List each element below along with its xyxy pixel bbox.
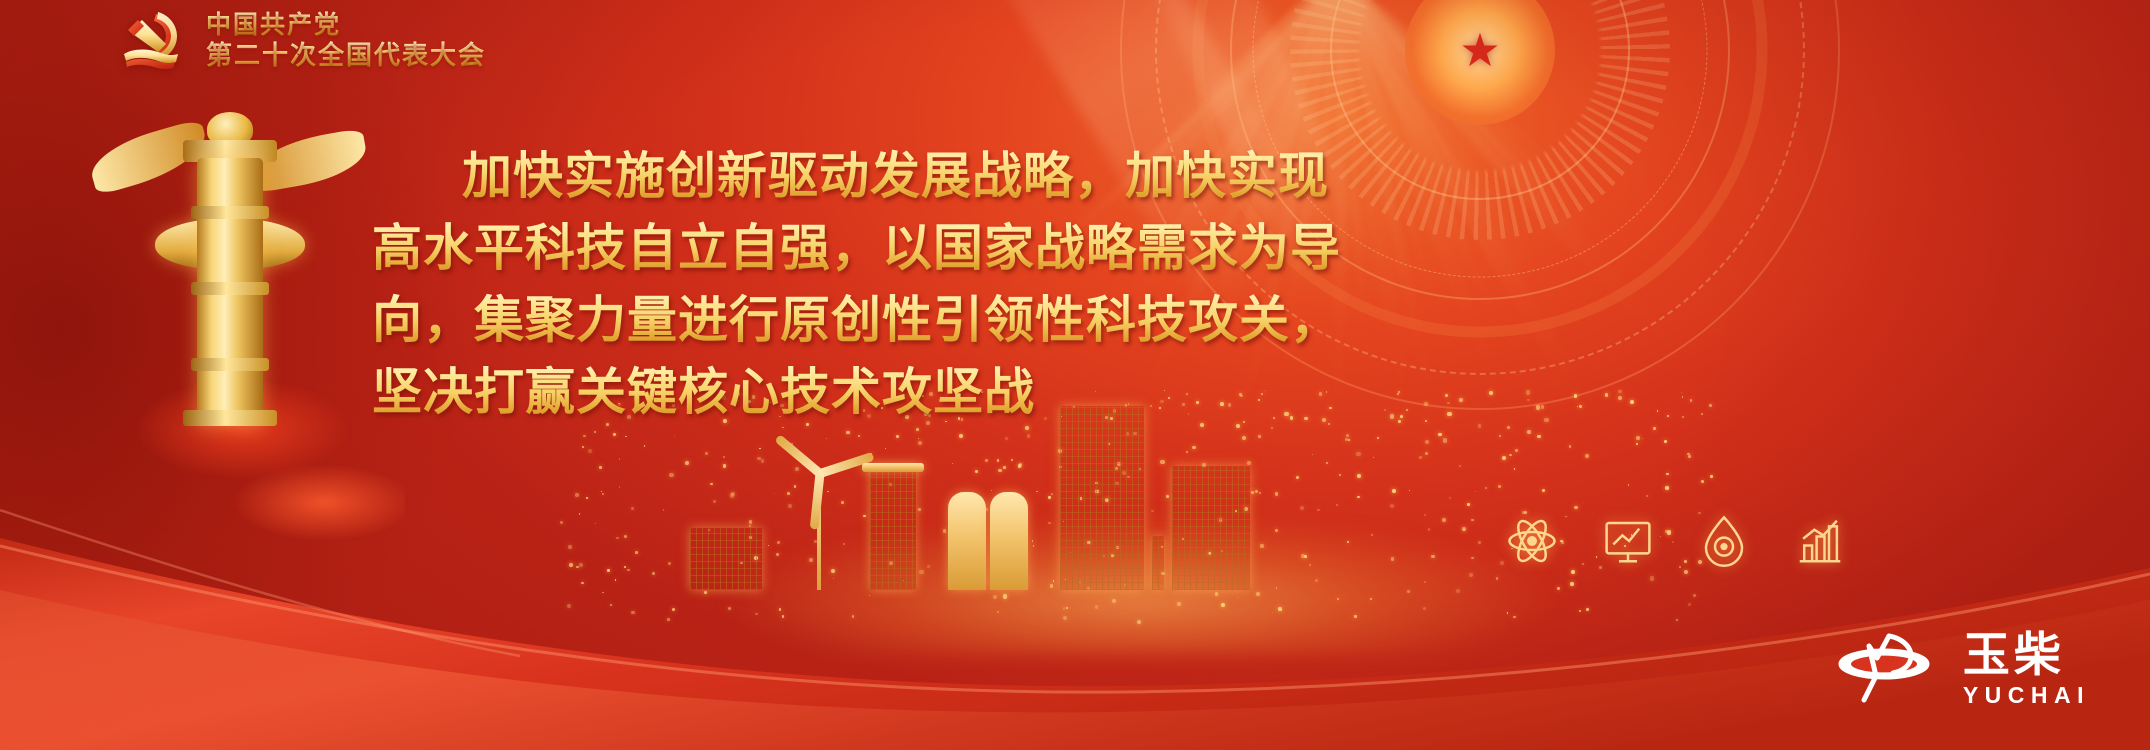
cpc-congress-banner: ★ [0,0,2150,750]
column-band [191,282,269,295]
huabiao-ornamental-column [95,110,355,440]
yuchai-wordmark: 玉柴 YUCHAI [1963,631,2090,707]
slogan-line-2: 高水平科技自立自强，以国家战略需求为导 [372,212,1762,284]
yuchai-logo[interactable]: 玉柴 YUCHAI [1837,630,2090,708]
yuchai-english-name: YUCHAI [1963,684,2090,707]
congress-line-2: 第二十次全国代表大会 [206,41,486,70]
column-base [183,410,277,426]
yuchai-chinese-name: 玉柴 [1963,631,2065,678]
column-band [191,358,269,371]
slogan-block: 加快实施创新驱动发展战略，加快实现 高水平科技自立自强，以国家战略需求为导 向，… [372,140,1762,428]
congress-title-block: 中国共产党 第二十次全国代表大会 [206,11,486,70]
congress-line-1: 中国共产党 [206,11,486,39]
yuchai-swoosh-mark [1837,630,1947,708]
slogan-line-4: 坚决打赢关键核心技术攻坚战 [372,356,1762,428]
slogan-line-3: 向，集聚力量进行原创性引领性科技攻关， [372,284,1762,356]
column-band [191,206,269,219]
slogan-line-1: 加快实施创新驱动发展战略，加快实现 [372,140,1762,212]
congress-header: 中国共产党 第二十次全国代表大会 [118,8,486,74]
cpc-hammer-sickle-emblem [118,8,190,74]
column-red-ribbon [135,360,405,590]
